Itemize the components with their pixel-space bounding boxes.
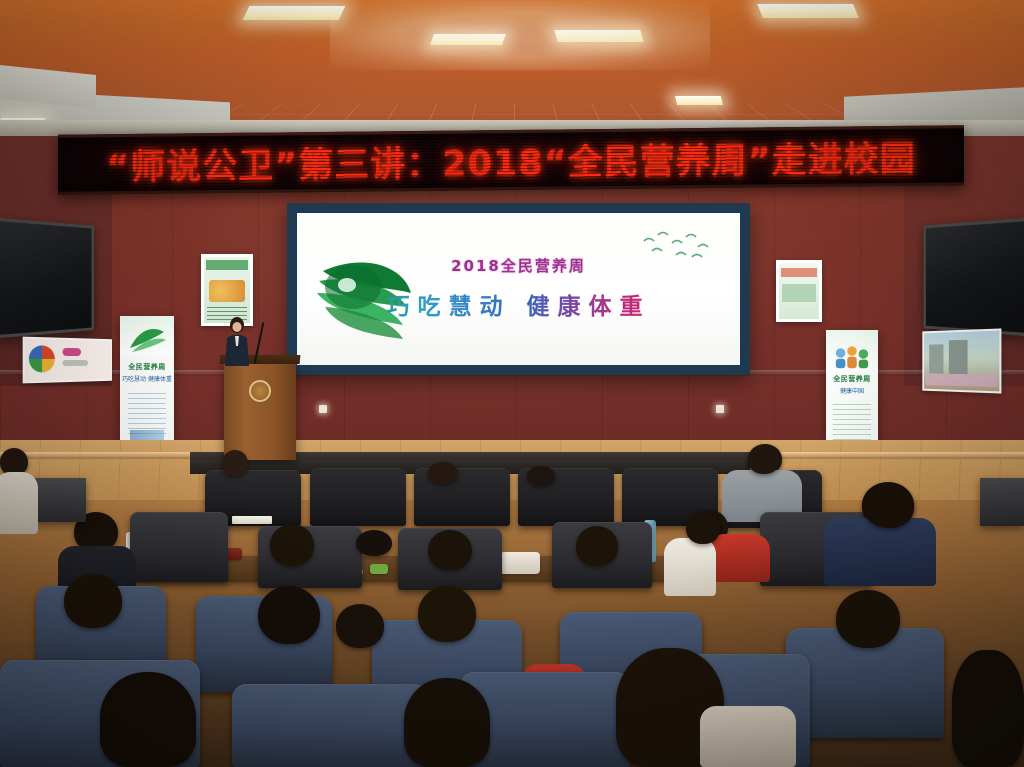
ceiling-light-glow [330,0,710,70]
audience-body-far-left [0,472,38,534]
wall-outlet-left [319,405,327,413]
audience-head-front-1 [64,574,122,628]
audience-head-mid-9 [864,484,914,528]
handbag [500,552,540,574]
ceiling [0,0,1024,136]
projection-screen[interactable]: 2018全民营养周 巧吃慧动 健康体重 [297,213,740,365]
lectern [224,362,296,460]
audience-head-closest-4 [952,650,1024,767]
seat-row2-1[interactable] [130,512,228,582]
rollup-left-title: 全民营养周 [120,362,174,372]
side-desk-right [980,478,1024,526]
poster-left-colors [23,337,112,384]
audience-body-navy-shirt [824,518,936,586]
audience-head-front-3 [418,586,476,642]
paper-stack [232,516,272,524]
audience-head-mid-5 [576,526,618,566]
screen-slogan: 巧吃慧动 健康体重 [297,287,740,321]
audience-head-back-2 [428,462,458,484]
audience-head-mid-7 [686,512,720,544]
led-banner: “师说公卫”第三讲：2018“全民营养周”走进校园 [58,125,964,194]
left-wall-monitor[interactable] [0,218,94,339]
audience-head-back-1 [222,450,248,476]
presenter-at-podium [222,316,252,368]
seat-row4-2[interactable] [232,684,428,767]
audience-head-back-3 [527,466,555,486]
audience-head-front-2 [258,586,320,644]
audience-head-mid-4 [428,530,472,570]
green-item [370,564,388,574]
audience-head-back-5 [748,446,780,474]
poster-small-right [776,260,822,322]
audience-head-front-4 [836,590,900,648]
rollup-right-subtitle: 健康中国 [826,386,878,395]
audience-body-red-jacket [708,534,770,582]
audience-body-white-shirt [664,538,716,596]
wall-outlet-right [716,405,724,413]
poster-right-photo [922,328,1001,393]
audience-head-closest-2 [404,678,490,767]
right-wall-monitor[interactable] [923,218,1024,336]
seat-row1-2[interactable] [310,468,406,526]
audience-head-mid-2 [270,524,314,566]
ceiling-light-5 [675,96,723,105]
led-banner-text: “师说公卫”第三讲：2018“全民营养周”走进校园 [58,128,964,191]
audience-head-mid-3 [356,530,392,556]
screen-title: 2018全民营养周 [297,255,740,276]
rollup-left-logo [120,318,174,358]
school-emblem [249,380,271,402]
ceiling-light-4 [757,4,859,18]
audience-body-closest-right [700,706,796,767]
audience-head-front-5 [336,604,384,648]
lecture-hall-photo: “师说公卫”第三讲：2018“全民营养周”走进校园 [0,0,1024,767]
rollup-left-subtitle: 巧吃慧动 健康体重 [120,374,174,383]
audience-head-closest-1 [100,672,196,767]
rollup-right-title: 全民营养周 [826,374,878,384]
rollup-right-illustration [826,334,878,372]
rollup-banner-left: 全民营养周 巧吃慧动 健康体重 [120,316,174,460]
projection-screen-frame: 2018全民营养周 巧吃慧动 健康体重 [287,203,750,375]
